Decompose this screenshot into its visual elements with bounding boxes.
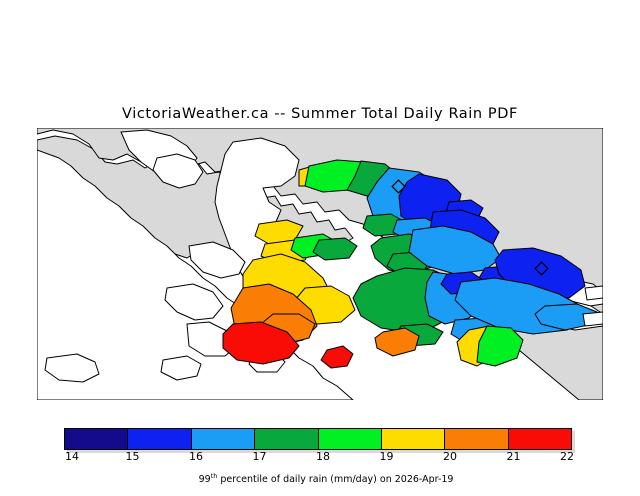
colorbar-cell-19-20[interactable] (382, 429, 445, 449)
colorbar-cell-17-18[interactable] (255, 429, 318, 449)
coast-white-sliver-east (585, 286, 603, 300)
colorbar-cell-20-21[interactable] (445, 429, 508, 449)
colorbar (64, 428, 572, 450)
colorbar-cell-16-17[interactable] (192, 429, 255, 449)
colorbar-cell-18-19[interactable] (319, 429, 382, 449)
page-title: VictoriaWeather.ca -- Summer Total Daily… (0, 106, 640, 122)
map-svg (37, 128, 603, 400)
colorbar-strip[interactable] (64, 428, 572, 450)
map-canvas[interactable] (37, 128, 603, 400)
colorbar-cell-21-22[interactable] (509, 429, 571, 449)
colorbar-cell-14-15[interactable] (65, 429, 128, 449)
region-green-streak-3 (313, 238, 357, 260)
weather-map-page: VictoriaWeather.ca -- Summer Total Daily… (0, 0, 640, 480)
colorbar-cell-15-16[interactable] (128, 429, 191, 449)
coast-white-sliver-east-2 (583, 312, 603, 326)
colorbar-caption: 99th percentile of daily rain (mm/day) o… (0, 461, 640, 496)
